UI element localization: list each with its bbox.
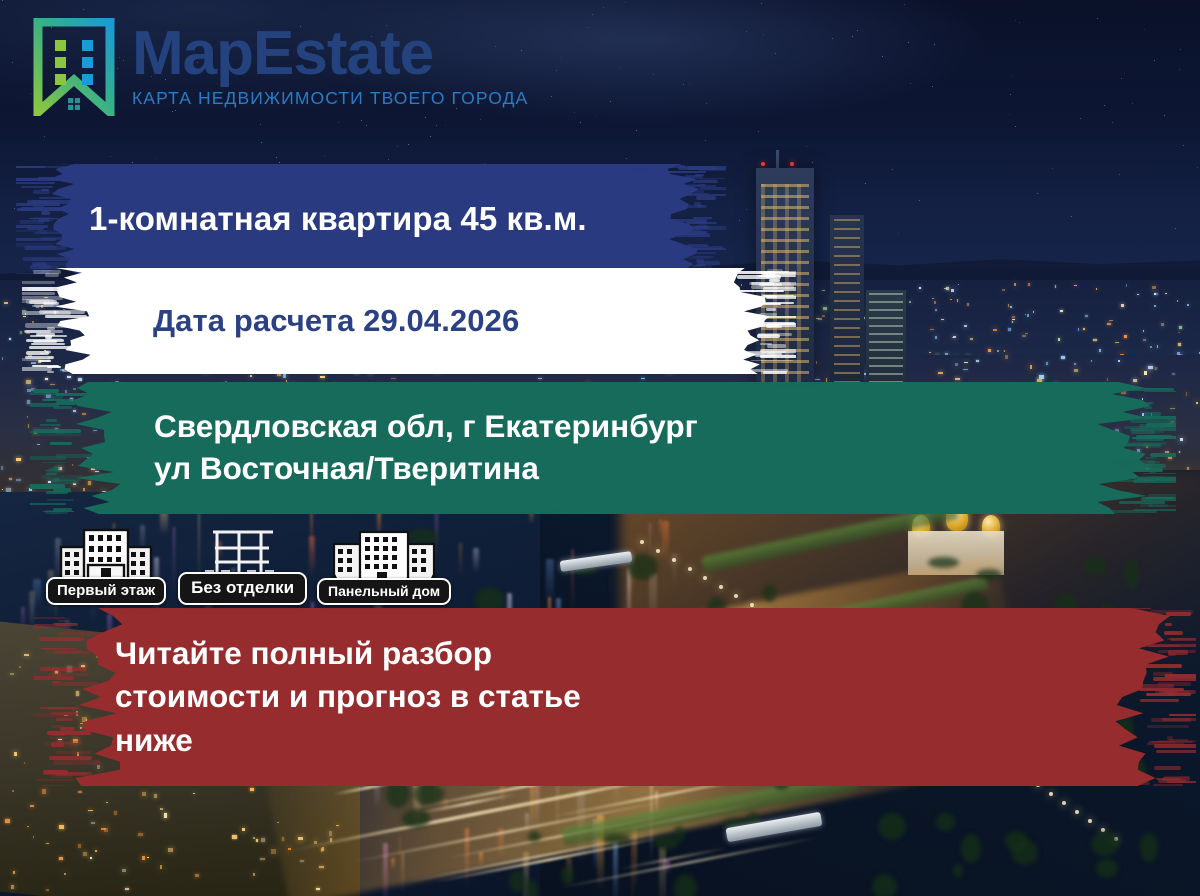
calculation-date-band: Дата расчета 29.04.2026 (48, 268, 770, 374)
property-title-band: 1-комнатная квартира 45 кв.м. (42, 164, 700, 274)
feature-badges: Первый этаж Без отделки (46, 518, 451, 605)
cta-line-3: ниже (115, 719, 1170, 762)
feature-label: Панельный дом (317, 578, 451, 605)
cta-line-1: Читайте полный разбор (115, 632, 1170, 675)
feature-label: Без отделки (178, 572, 307, 605)
property-title: 1-комнатная квартира 45 кв.м. (42, 200, 700, 238)
feature-no-finishing[interactable]: Без отделки (178, 518, 307, 605)
brand-logo[interactable]: MapEstate КАРТА НЕДВИЖИМОСТИ ТВОЕГО ГОРО… (30, 18, 528, 116)
apartment-building-icon (58, 523, 154, 583)
address-region-city: Свердловская обл, г Екатеринбург (154, 406, 1150, 448)
cta-band: Читайте полный разбор стоимости и прогно… (60, 608, 1170, 786)
address-street: ул Восточная/Тверитина (154, 448, 1150, 490)
brand-wordmark: MapEstate (132, 25, 528, 84)
brand-tagline: КАРТА НЕДВИЖИМОСТИ ТВОЕГО ГОРОДА (132, 88, 528, 109)
feature-label: Первый этаж (46, 577, 166, 605)
calculation-date: Дата расчета 29.04.2026 (48, 303, 770, 339)
panel-house-icon (329, 524, 439, 584)
cta-line-2: стоимости и прогноз в статье (115, 675, 1170, 718)
bookmark-building-icon (30, 18, 118, 116)
unfinished-frame-icon (199, 518, 287, 578)
feature-panel-house[interactable]: Панельный дом (317, 524, 451, 605)
feature-first-floor[interactable]: Первый этаж (46, 523, 166, 605)
address-band: Свердловская обл, г Екатеринбург ул Вост… (56, 382, 1150, 514)
